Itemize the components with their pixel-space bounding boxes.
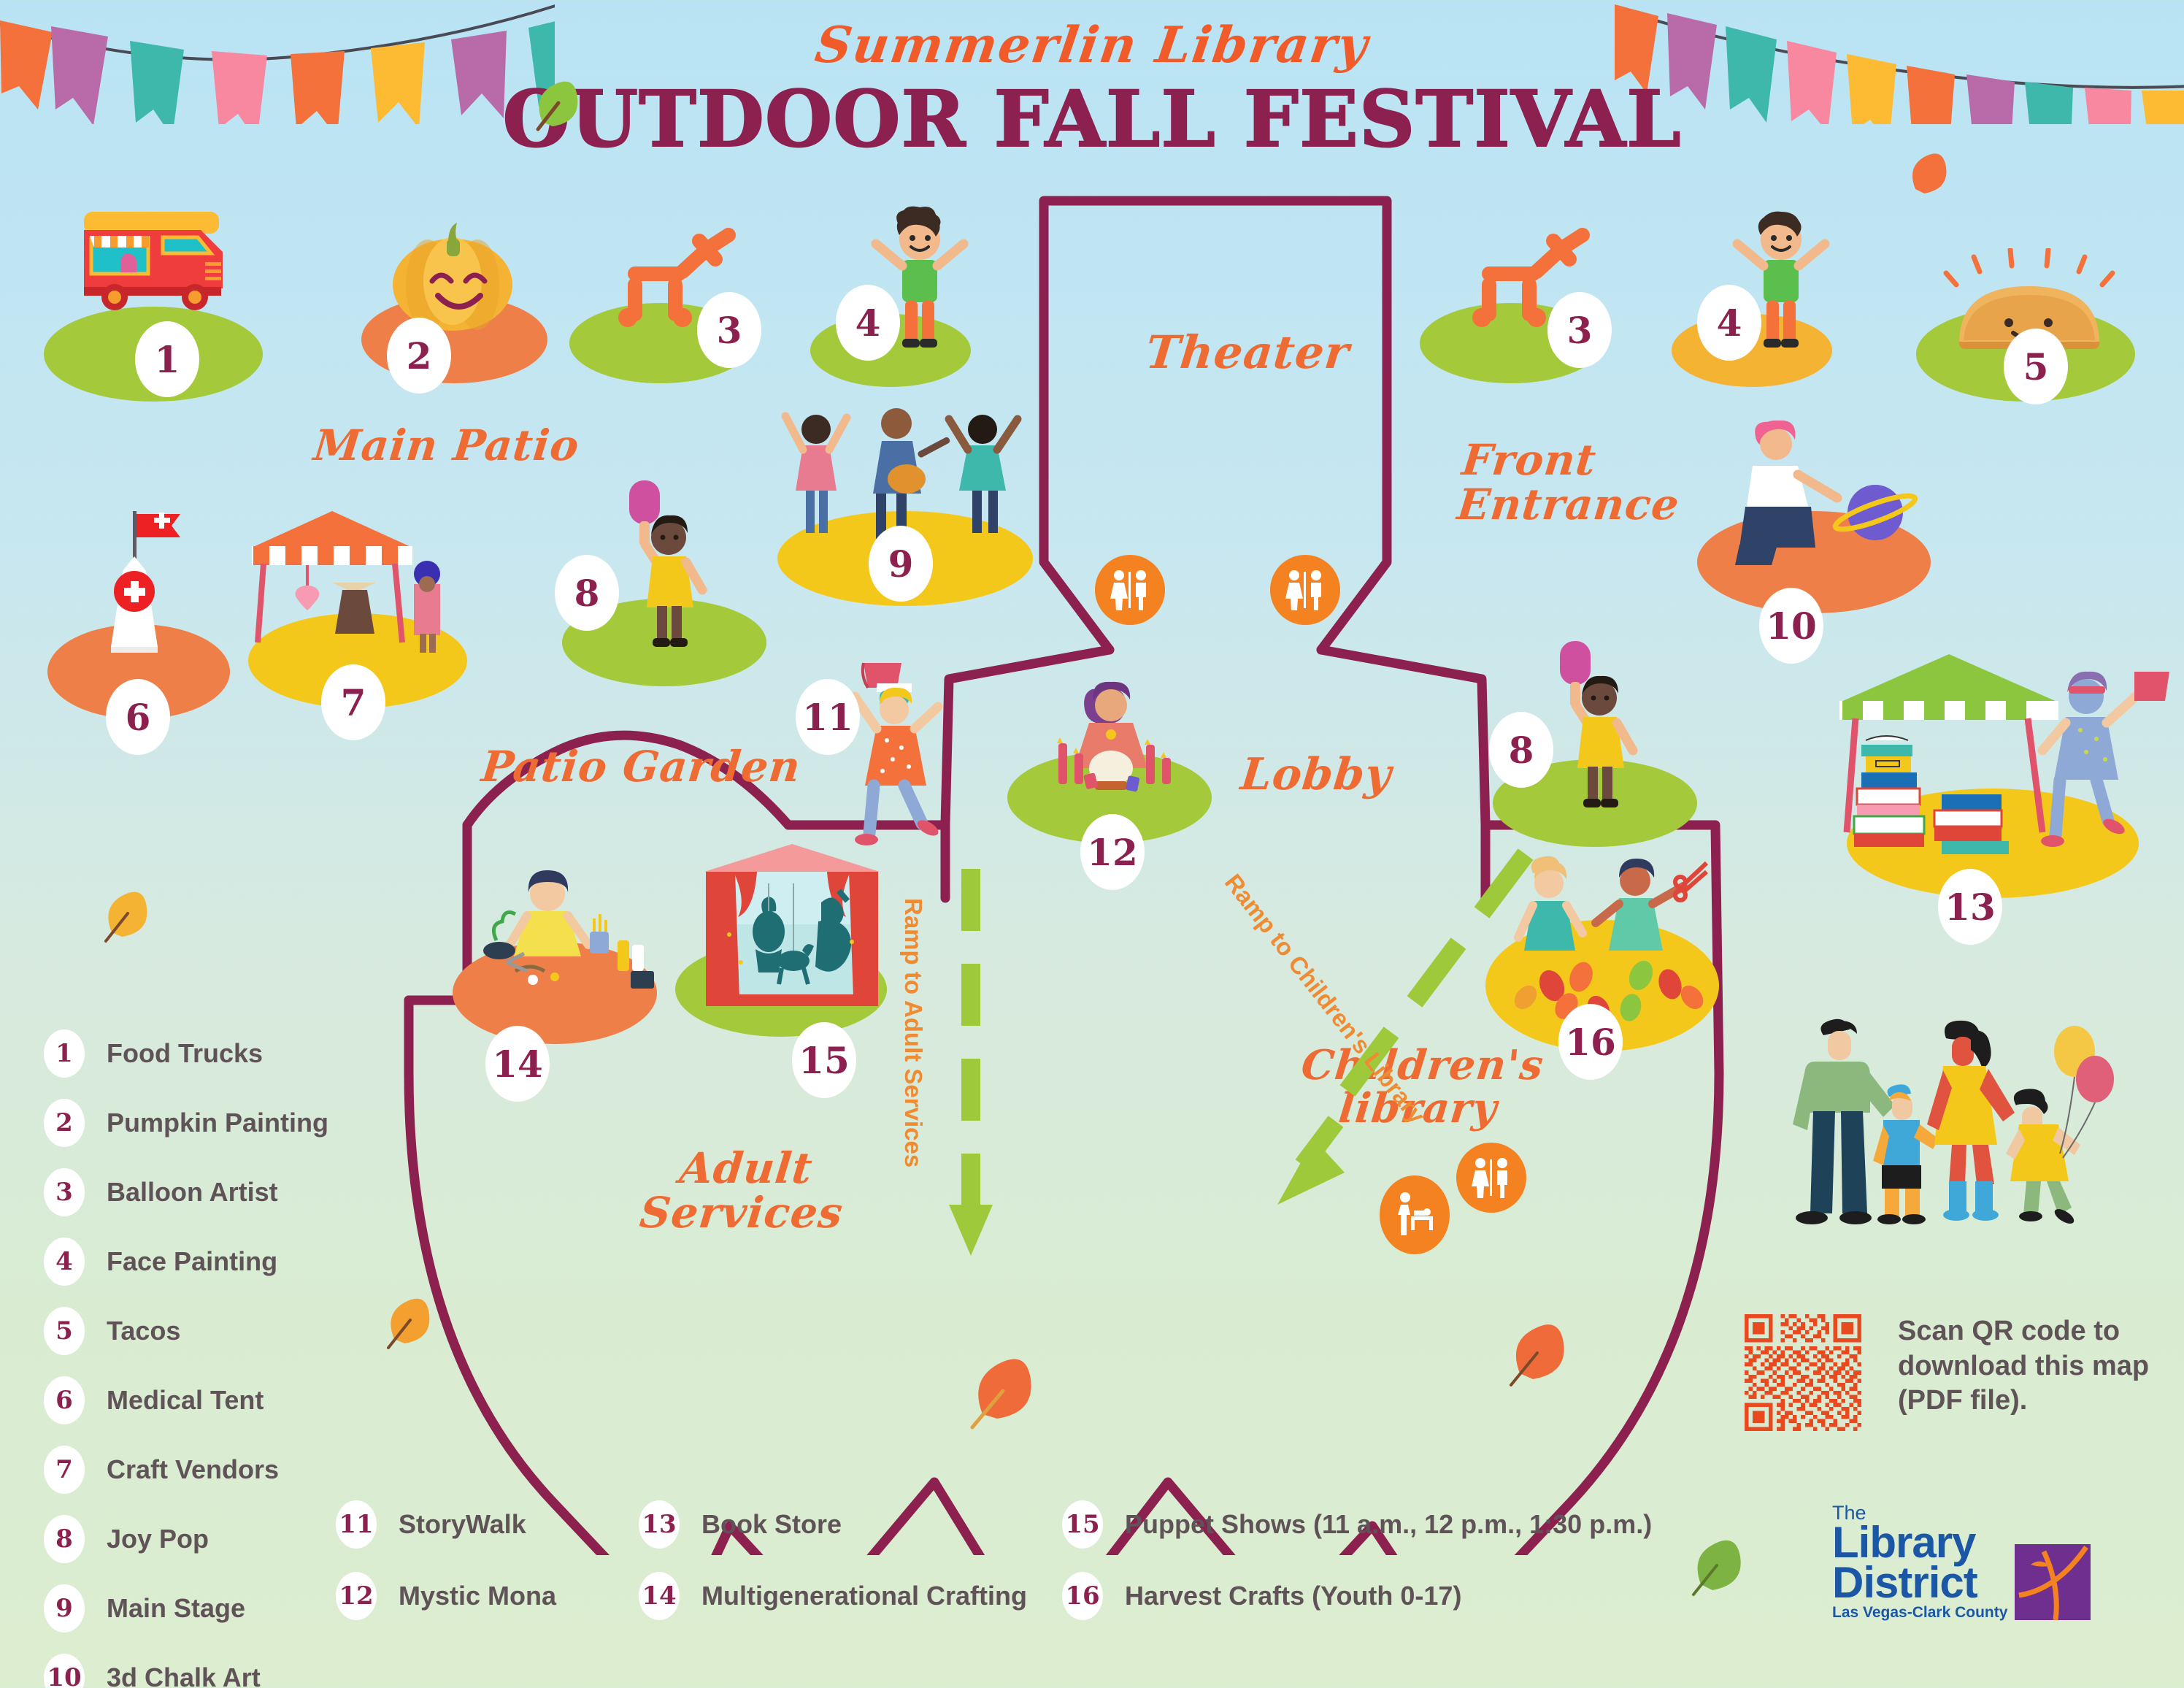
legend-label: Tacos: [107, 1316, 180, 1346]
joy-pop-icon-right: [1537, 628, 1653, 818]
map-marker-14[interactable]: 14: [485, 1026, 550, 1102]
legend-label: Face Painting: [107, 1246, 277, 1277]
legend-number: 12: [336, 1572, 377, 1620]
qr-code-block[interactable]: [1745, 1314, 1861, 1431]
legend-column-3: 13Book Store 14Multigenerational Craftin…: [639, 1500, 1027, 1643]
legend-item[interactable]: 14Multigenerational Crafting: [639, 1572, 1027, 1620]
logo-library: Library: [1832, 1522, 2007, 1562]
restroom-icon-theater-right: [1270, 555, 1340, 625]
legend-item[interactable]: 103d Chalk Art: [44, 1654, 350, 1688]
joy-pop-icon-left: [606, 467, 723, 657]
legend-number: 7: [44, 1446, 85, 1494]
restroom-icon-childrens: [1456, 1143, 1526, 1213]
festival-subtitle: Summerlin Library: [0, 16, 2184, 74]
legend-column-4: 15Puppet Shows (11 a.m., 12 p.m., 1:30 p…: [1062, 1500, 1652, 1643]
legend-label: 3d Chalk Art: [107, 1662, 261, 1688]
legend-label: Joy Pop: [107, 1524, 209, 1554]
legend-number: 2: [44, 1099, 85, 1147]
legend-label: Book Store: [701, 1509, 842, 1540]
legend-number: 11: [336, 1500, 377, 1549]
map-marker-9[interactable]: 9: [869, 526, 933, 602]
map-marker-15[interactable]: 15: [792, 1022, 856, 1098]
logo-subtitle: Las Vegas-Clark County: [1832, 1605, 2007, 1619]
storywalk-icon: [828, 650, 967, 862]
family-illustration: [1774, 1015, 2117, 1263]
legend-label: Mystic Mona: [399, 1581, 556, 1611]
legend-label: Puppet Shows (11 a.m., 12 p.m., 1:30 p.m…: [1125, 1509, 1652, 1540]
map-marker-1[interactable]: 1: [135, 321, 199, 397]
legend-item[interactable]: 5Tacos: [44, 1307, 350, 1355]
legend-label: Pumpkin Painting: [107, 1108, 328, 1138]
legend-number: 3: [44, 1168, 85, 1216]
legend-label: Medical Tent: [107, 1385, 264, 1416]
legend-number: 15: [1062, 1500, 1103, 1549]
logo-mark-icon: [2015, 1544, 2091, 1620]
legend-number: 6: [44, 1376, 85, 1424]
chalk-art-icon: [1719, 402, 1923, 591]
map-marker-4-right[interactable]: 4: [1697, 285, 1761, 361]
map-marker-7[interactable]: 7: [321, 664, 385, 740]
map-marker-10[interactable]: 10: [1759, 588, 1823, 664]
map-marker-3-right[interactable]: 3: [1547, 292, 1612, 368]
legend-label: StoryWalk: [399, 1509, 526, 1540]
restroom-icon-theater-left: [1095, 555, 1165, 625]
legend-item[interactable]: 16Harvest Crafts (Youth 0-17): [1062, 1572, 1652, 1620]
legend-item[interactable]: 2Pumpkin Painting: [44, 1099, 350, 1147]
qr-instruction-text: Scan QR code to download this map (PDF f…: [1898, 1314, 2161, 1419]
autumn-leaf-icon-6: [1504, 1318, 1569, 1391]
page-title: OUTDOOR FALL FESTIVAL: [0, 73, 2184, 164]
pumpkin-icon: [380, 208, 526, 339]
map-marker-16[interactable]: 16: [1558, 1004, 1623, 1080]
autumn-leaf-icon-7: [1686, 1533, 1745, 1599]
map-marker-8-left[interactable]: 8: [555, 555, 619, 631]
legend-item[interactable]: 9Main Stage: [44, 1584, 350, 1633]
legend-item[interactable]: 4Face Painting: [44, 1238, 350, 1286]
label-theater: Theater: [1144, 329, 1352, 376]
map-marker-4-left[interactable]: 4: [836, 285, 900, 361]
legend-item[interactable]: 11StoryWalk: [336, 1500, 556, 1549]
legend-item[interactable]: 15Puppet Shows (11 a.m., 12 p.m., 1:30 p…: [1062, 1500, 1652, 1549]
legend-number: 5: [44, 1307, 85, 1355]
legend-item[interactable]: 12Mystic Mona: [336, 1572, 556, 1620]
ramp-adult-services-label: Ramp to Adult Services: [899, 898, 927, 1167]
legend-label: Harvest Crafts (Youth 0-17): [1125, 1581, 1461, 1611]
multigenerational-crafting-icon: [445, 862, 664, 1029]
legend-number: 16: [1062, 1572, 1103, 1620]
legend-label: Balloon Artist: [107, 1177, 278, 1208]
legend-number: 4: [44, 1238, 85, 1286]
legend-label: Food Trucks: [107, 1038, 263, 1069]
map-marker-6[interactable]: 6: [106, 679, 170, 755]
map-marker-12[interactable]: 12: [1080, 814, 1145, 890]
ramp-arrow-adult-services: [942, 862, 1044, 1278]
book-store-icon: [1832, 650, 2175, 869]
label-lobby: Lobby: [1239, 752, 1394, 798]
legend-column-1: 1Food Trucks 2Pumpkin Painting 3Balloon …: [44, 1029, 350, 1688]
legend-item[interactable]: 7Craft Vendors: [44, 1446, 350, 1494]
legend-number: 9: [44, 1584, 85, 1633]
autumn-leaf-icon-2: [1905, 150, 1949, 201]
map-marker-8-right[interactable]: 8: [1489, 712, 1553, 788]
map-marker-13[interactable]: 13: [1938, 869, 2002, 945]
map-marker-11[interactable]: 11: [796, 679, 860, 755]
label-adult-services: Adult Services: [638, 1146, 850, 1235]
baby-changing-icon: [1380, 1175, 1450, 1254]
legend-item[interactable]: 1Food Trucks: [44, 1029, 350, 1078]
autumn-leaf-icon-3: [99, 887, 151, 947]
puppet-show-icon: [682, 840, 901, 1029]
label-front-entrance: Front Entrance: [1456, 438, 1687, 527]
legend-number: 1: [44, 1029, 85, 1078]
autumn-leaf-icon-1: [529, 77, 580, 135]
legend-label: Craft Vendors: [107, 1454, 279, 1485]
mystic-mona-icon: [1022, 664, 1204, 818]
craft-vendor-tent-icon: [245, 504, 471, 686]
legend-number: 14: [639, 1572, 680, 1620]
autumn-leaf-icon-4: [380, 1292, 435, 1354]
legend-number: 8: [44, 1515, 85, 1563]
legend-label: Multigenerational Crafting: [701, 1581, 1027, 1611]
medical-tent-icon: [73, 504, 219, 686]
logo-district: District: [1832, 1562, 2007, 1603]
map-marker-3-left[interactable]: 3: [697, 292, 761, 368]
legend-column-2: 11StoryWalk 12Mystic Mona: [336, 1500, 556, 1643]
library-district-logo: The Library District Las Vegas-Clark Cou…: [1832, 1504, 2091, 1620]
legend-item[interactable]: 13Book Store: [639, 1500, 1027, 1549]
qr-code-icon[interactable]: [1745, 1314, 1861, 1431]
map-marker-5[interactable]: 5: [2004, 329, 2068, 404]
food-truck-icon: [69, 186, 252, 325]
legend-item[interactable]: 3Balloon Artist: [44, 1168, 350, 1216]
map-marker-2[interactable]: 2: [387, 318, 451, 394]
legend-item[interactable]: 6Medical Tent: [44, 1376, 350, 1424]
autumn-leaf-icon-5: [964, 1354, 1044, 1435]
label-patio-garden: Patio Garden: [480, 745, 803, 789]
legend-number: 10: [44, 1654, 85, 1688]
legend-label: Main Stage: [107, 1593, 245, 1624]
label-main-patio: Main Patio: [312, 423, 582, 468]
legend-item[interactable]: 8Joy Pop: [44, 1515, 350, 1563]
legend-number: 13: [639, 1500, 680, 1549]
